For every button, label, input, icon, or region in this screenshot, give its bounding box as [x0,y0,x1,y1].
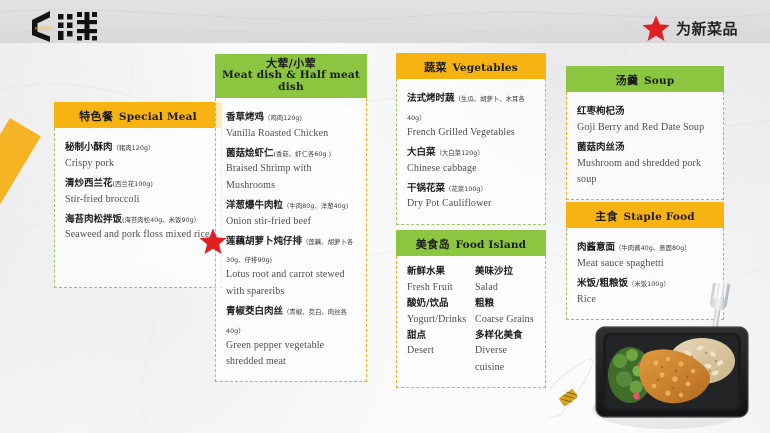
food-island-grid: 新鲜水果 Fresh Fruit 酸奶/饮品 Yogurt/Drinks 甜点 … [407,265,535,377]
dish-item: 大白菜（大白菜120g） Chinese cabbage [407,142,535,177]
dish-cn: 干锅花菜 [407,183,445,194]
dish-item: 美味沙拉 Salad [475,265,535,296]
dish-en: Chinese cabbage [407,161,535,177]
dish-en: Crispy pork [65,156,211,172]
category-title-cn: 蔬菜 [424,61,447,74]
dish-en: Green pepper vegetable shredded meat [226,338,356,370]
category-special-meal: 特色餐 Special Meal 秘制小酥肉（猪肉120g） Crispy po… [54,102,222,288]
category-food-island: 美食岛 Food Island 新鲜水果 Fresh Fruit 酸奶/饮品 Y… [396,230,546,388]
dish-item: 菌菇肉丝汤 Mushroom and shredded pork soup [577,137,713,188]
menu-poster: KOWEI 为新菜品 特色餐 Special Meal [0,0,770,433]
category-title-en: Meat dish & Half meat dish [217,70,365,94]
dish-cn: 法式烤时蔬 [407,93,455,104]
dish-en: Stir-fried broccoli [65,192,211,208]
dish-item: 青椒茭白肉丝（青椒、茭白、肉丝各40g） Green pepper vegeta… [226,301,356,370]
dish-item: 海苔肉松拌饭(海苔肉松40g、米饭90g） Seaweed and pork f… [65,209,211,244]
category-title-soup: 汤羹 Soup [566,66,724,92]
dish-cn: 大白菜 [407,147,436,158]
dish-en: Braised Shrimp with Mushrooms [226,161,356,193]
svg-text:KOWEI: KOWEI [35,26,52,32]
category-body-vegetables: 法式烤时蔬（生瓜、胡萝卜、木耳各40g） French Grilled Vege… [396,79,546,225]
category-title-en: Special Meal [119,111,197,123]
dish-cn: 新鲜水果 [407,265,467,280]
category-body-food-island: 新鲜水果 Fresh Fruit 酸奶/饮品 Yogurt/Drinks 甜点 … [396,256,546,388]
dish-amount: (西兰花100g) [113,180,153,188]
category-soup: 汤羹 Soup 红枣枸杞汤 Goji Berry and Red Date So… [566,66,724,200]
dish-cn: 菌菇肉丝汤 [577,142,625,153]
dish-item: 粗粮 Coarse Grains [475,297,535,328]
category-title-meat-dish: 大荤/小荤 Meat dish & Half meat dish [215,54,367,98]
red-star-icon [641,14,671,43]
category-title-food-island: 美食岛 Food Island [396,230,546,256]
dish-en: Seaweed and pork floss mixed rice [65,227,211,243]
dish-amount: （牛肉80g、洋葱40g) [283,202,348,210]
dish-amount: （花菜100g） [445,185,487,193]
dish-item: 干锅花菜（花菜100g） Dry Pot Cauliflower [407,178,535,213]
category-body-meat-dish: 香草烤鸡（鸡肉120g) Vanilla Roasted Chicken 菌菇烩… [215,98,367,382]
dish-amount: (海苔肉松40g、米饭90g） [122,216,200,224]
category-meat-dish: 大荤/小荤 Meat dish & Half meat dish 香草烤鸡（鸡肉… [215,54,367,382]
brand-logo: KOWEI [22,8,114,44]
category-title-cn: 主食 [595,210,618,223]
red-star-icon [198,227,228,256]
category-title-en: Soup [644,75,674,87]
dish-en: Onion stir-fried beef [226,214,356,230]
category-vegetables: 蔬菜 Vegetables 法式烤时蔬（生瓜、胡萝卜、木耳各40g） Frenc… [396,53,546,225]
dish-item: 甜点 Desert [407,329,467,360]
dish-item: 菌菇烩虾仁(香菇、虾仁各60g ) Braised Shrimp with Mu… [226,143,356,194]
category-title-staple-food: 主食 Staple Food [566,202,724,228]
dish-item: 洋葱爆牛肉粒（牛肉80g、洋葱40g) Onion stir-fried bee… [226,195,356,230]
food-photo [550,283,770,433]
dish-cn: 多样化美食 [475,329,535,344]
category-title-cn: 特色餐 [79,110,113,123]
dish-item: 香草烤鸡（鸡肉120g) Vanilla Roasted Chicken [226,107,356,142]
dish-cn: 红枣枸杞汤 [577,106,625,117]
dish-en: Meat sauce spaghetti [577,256,713,272]
dish-en: Salad [475,280,535,296]
food-photo-illustration [550,283,770,433]
category-title-en: Staple Food [624,211,695,223]
dish-cn: 甜点 [407,329,467,344]
dish-cn: 肉酱意面 [577,242,615,253]
dish-en: Vanilla Roasted Chicken [226,126,356,142]
dish-en: French Grilled Vegetables [407,125,535,141]
napkin-with-fork [550,359,593,417]
dish-cn: 香草烤鸡 [226,112,264,123]
dish-cn: 秘制小酥肉 [65,142,113,153]
dish-en: Yogurt/Drinks [407,312,467,328]
dish-cn: 莲藕胡萝卜炖仔排 [226,236,302,247]
dish-en: Desert [407,343,467,359]
dish-en: Dry Pot Cauliflower [407,196,535,212]
dish-cn: 青椒茭白肉丝 [226,306,283,317]
category-title-special-meal: 特色餐 Special Meal [54,102,222,128]
dish-cn: 粗粮 [475,297,535,312]
dish-cn: 海苔肉松拌饭 [65,214,122,225]
dish-amount: （鸡肉120g) [264,114,302,122]
dish-cn: 酸奶/饮品 [407,297,467,312]
dish-amount: (香菇、虾仁各60g ) [274,150,332,158]
dish-item: 秘制小酥肉（猪肉120g） Crispy pork [65,137,211,172]
category-title-vegetables: 蔬菜 Vegetables [396,53,546,79]
category-body-special-meal: 秘制小酥肉（猪肉120g） Crispy pork 清炒西兰花(西兰花100g)… [54,128,222,288]
dish-item: 多样化美食 Diverse cuisine [475,329,535,376]
category-title-en: Vegetables [452,62,517,74]
dish-en: Mushroom and shredded pork soup [577,156,713,188]
category-title-cn: 汤羹 [616,74,639,87]
category-title-cn: 美食岛 [416,238,450,251]
dish-item-new: 莲藕胡萝卜炖仔排（莲藕、胡萝卜各30g、仔排90g) Lotus root an… [226,231,356,300]
dish-en: Diverse cuisine [475,343,535,375]
dish-cn: 洋葱爆牛肉粒 [226,200,283,211]
dish-item: 法式烤时蔬（生瓜、胡萝卜、木耳各40g） French Grilled Vege… [407,88,535,141]
new-dish-legend: 为新菜品 [641,14,738,43]
dish-en: Goji Berry and Red Date Soup [577,120,713,136]
dish-amount: （大白菜120g） [436,149,484,157]
dish-en: Lotus root and carrot stewed with sparer… [226,267,356,299]
dish-amount: （猪肉120g） [113,144,155,152]
dish-item: 新鲜水果 Fresh Fruit [407,265,467,296]
dish-cn: 菌菇烩虾仁 [226,148,274,159]
dish-amount: （牛肉酱40g、意面80g） [615,244,691,252]
dish-en: Fresh Fruit [407,280,467,296]
dish-item: 红枣枸杞汤 Goji Berry and Red Date Soup [577,101,713,136]
dish-item: 清炒西兰花(西兰花100g) Stir-fried broccoli [65,173,211,208]
new-dish-label: 为新菜品 [676,18,738,39]
category-title-en: Food Island [456,239,527,251]
food-island-column-1: 新鲜水果 Fresh Fruit 酸奶/饮品 Yogurt/Drinks 甜点 … [407,265,467,377]
dish-cn: 清炒西兰花 [65,178,113,189]
category-body-soup: 红枣枸杞汤 Goji Berry and Red Date Soup 菌菇肉丝汤… [566,92,724,200]
dish-en: Coarse Grains [475,312,535,328]
dish-item: 酸奶/饮品 Yogurt/Drinks [407,297,467,328]
food-island-column-2: 美味沙拉 Salad 粗粮 Coarse Grains 多样化美食 Divers… [467,265,535,377]
dish-cn: 美味沙拉 [475,265,535,280]
dish-item: 肉酱意面（牛肉酱40g、意面80g） Meat sauce spaghetti [577,237,713,272]
